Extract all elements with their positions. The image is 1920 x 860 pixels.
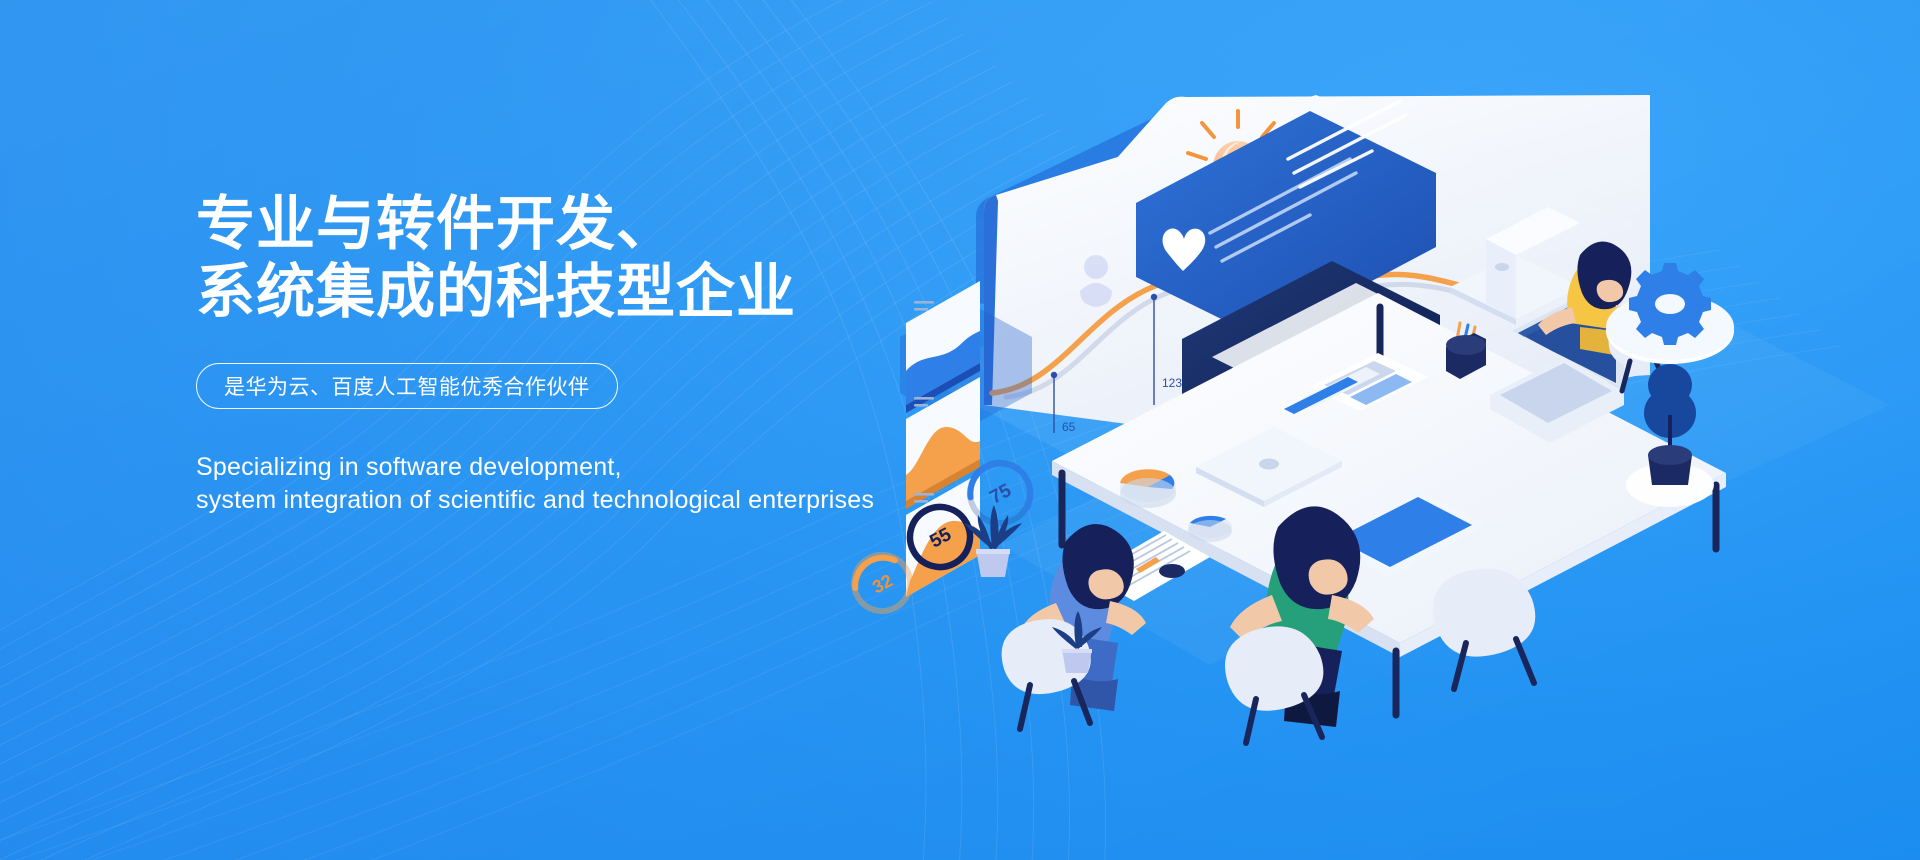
office-chair-right [1225,626,1323,743]
headline-line-2: 系统集成的科技型企业 [196,258,956,326]
subtitle-line-1: Specializing in software development, [196,453,622,481]
page-title: 专业与转件开发、 系统集成的科技型企业 [196,190,956,327]
office-chair-empty [1433,569,1535,689]
partner-badge: 是华为云、百度人工智能优秀合作伙伴 [196,363,618,409]
hero-subtitle: Specializing in software development, sy… [196,451,956,518]
hero-banner: 专业与转件开发、 系统集成的科技型企业 是华为云、百度人工智能优秀合作伙伴 Sp… [0,0,1920,860]
hero-illustration: 65 123 97 81 [880,75,1900,655]
chart-label-1: 123 [1162,376,1182,390]
subtitle-line-2: system integration of scientific and tec… [196,484,956,518]
partner-badge-label: 是华为云、百度人工智能优秀合作伙伴 [224,371,590,401]
gauge-75-value: 75 [986,480,1015,509]
headline-line-1: 专业与转件开发、 [196,191,676,257]
chart-label-0: 65 [1062,420,1076,434]
gauge-32-value: 32 [869,570,896,597]
hero-copy-block: 专业与转件开发、 系统集成的科技型企业 是华为云、百度人工智能优秀合作伙伴 Sp… [196,190,956,518]
